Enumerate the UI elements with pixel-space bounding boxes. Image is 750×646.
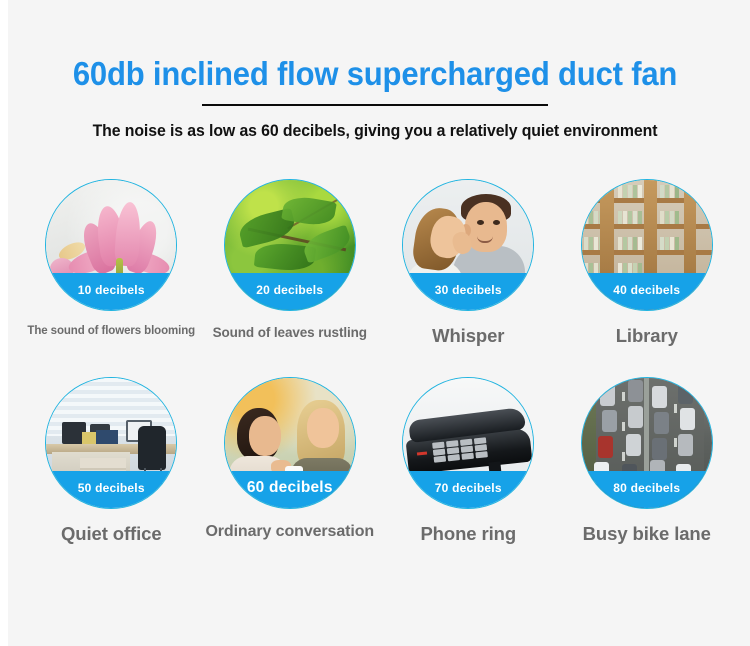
- decibel-value: 40 decibels: [613, 283, 680, 297]
- decibel-card-busy-bike-lane[interactable]: 80 decibels Busy bike lane: [558, 377, 737, 545]
- card-image-circle: 10 decibels: [45, 179, 177, 311]
- card-caption: Whisper: [432, 325, 504, 347]
- decibel-value: 20 decibels: [256, 283, 323, 297]
- decibel-band: 80 decibels: [582, 471, 712, 508]
- page-subtitle: The noise is as low as 60 decibels, givi…: [15, 122, 735, 141]
- card-image-circle: 20 decibels: [224, 179, 356, 311]
- decibel-value: 80 decibels: [613, 481, 680, 495]
- page-title: 60db inclined flow supercharged duct fan: [23, 56, 728, 92]
- decibel-band: 40 decibels: [582, 273, 712, 310]
- decibel-card-ordinary-conversation[interactable]: 60 decibels Ordinary conversation: [201, 377, 380, 545]
- card-caption: The sound of flowers blooming: [27, 325, 195, 337]
- card-caption: Busy bike lane: [583, 523, 711, 545]
- header: 60db inclined flow supercharged duct fan…: [0, 0, 750, 141]
- decibel-band: 20 decibels: [225, 273, 355, 310]
- decibel-band: 60 decibels: [225, 471, 355, 508]
- decibel-value: 60 decibels: [247, 479, 333, 497]
- decibel-card-leaves[interactable]: 20 decibels Sound of leaves rustling: [201, 179, 380, 347]
- card-image-circle: 80 decibels: [581, 377, 713, 509]
- card-caption: Library: [616, 325, 678, 347]
- decibel-value: 10 decibels: [78, 283, 145, 297]
- decibel-card-whisper[interactable]: 30 decibels Whisper: [379, 179, 558, 347]
- decibel-band: 10 decibels: [46, 273, 176, 310]
- card-image-circle: 40 decibels: [581, 179, 713, 311]
- card-caption: Phone ring: [420, 523, 516, 545]
- card-caption: Quiet office: [61, 523, 162, 545]
- card-image-circle: 70 decibels: [402, 377, 534, 509]
- decibel-card-phone-ring[interactable]: 70 decibels Phone ring: [379, 377, 558, 545]
- card-caption: Sound of leaves rustling: [213, 325, 367, 340]
- title-divider: [202, 104, 548, 106]
- decibel-band: 70 decibels: [403, 471, 533, 508]
- card-caption: Ordinary conversation: [205, 523, 374, 541]
- decibel-value: 70 decibels: [435, 481, 502, 495]
- decibel-card-library[interactable]: 40 decibels Library: [558, 179, 737, 347]
- decibel-band: 30 decibels: [403, 273, 533, 310]
- decibel-value: 50 decibels: [78, 481, 145, 495]
- card-image-circle: 30 decibels: [402, 179, 534, 311]
- decibel-card-quiet-office[interactable]: 50 decibels Quiet office: [22, 377, 201, 545]
- decibel-card-flowers[interactable]: 10 decibels The sound of flowers bloomin…: [22, 179, 201, 347]
- decibel-value: 30 decibels: [435, 283, 502, 297]
- card-image-circle: 50 decibels: [45, 377, 177, 509]
- decibel-band: 50 decibels: [46, 471, 176, 508]
- title-divider-wrap: [0, 92, 750, 118]
- noise-level-infographic: 60db inclined flow supercharged duct fan…: [0, 0, 750, 646]
- decibel-card-grid: 10 decibels The sound of flowers bloomin…: [0, 179, 750, 545]
- card-image-circle: 60 decibels: [224, 377, 356, 509]
